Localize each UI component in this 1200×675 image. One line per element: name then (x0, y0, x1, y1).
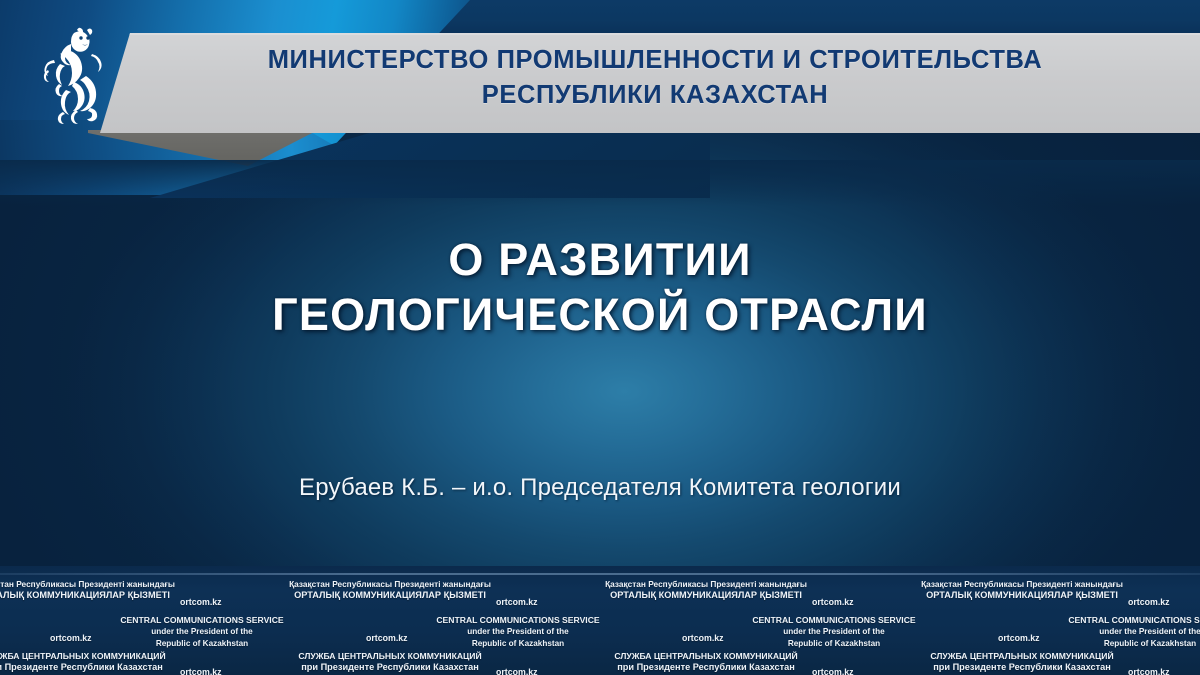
wm-en-line3: Republic of Kazakhstan (156, 639, 248, 648)
ministry-title: МИНИСТЕРСТВО ПРОМЫШЛЕННОСТИ И СТРОИТЕЛЬС… (150, 43, 1160, 113)
wm-ru-line2: при Президенте Республики Казахстан (0, 662, 163, 672)
header-bottom-fade (0, 160, 1200, 206)
wm-ru-line2: при Президенте Республики Казахстан (301, 662, 479, 672)
ministry-title-line1: МИНИСТЕРСТВО ПРОМЫШЛЕННОСТИ И СТРОИТЕЛЬС… (150, 43, 1160, 78)
watermark-url: ortcom.kz (180, 667, 222, 675)
wm-ru-line1: СЛУЖБА ЦЕНТРАЛЬНЫХ КОММУНИКАЦИЙ (930, 651, 1113, 661)
wm-en-line2: under the President of the (783, 627, 884, 636)
watermark-url: ortcom.kz (812, 667, 854, 675)
watermark-ru-text: СЛУЖБА ЦЕНТРАЛЬНЫХ КОММУНИКАЦИЙ при През… (260, 651, 520, 674)
watermark-ru-text: СЛУЖБА ЦЕНТРАЛЬНЫХ КОММУНИКАЦИЙ при През… (892, 651, 1152, 674)
watermark-kk-text: Қазақстан Республикасы Президенті жанынд… (0, 579, 204, 601)
page-title-line1: О РАЗВИТИИ (0, 232, 1200, 287)
watermark-kk-text: Қазақстан Республикасы Президенті жанынд… (260, 579, 520, 601)
slide-header: МИНИСТЕРСТВО ПРОМЫШЛЕННОСТИ И СТРОИТЕЛЬС… (0, 0, 1200, 175)
wm-kk-line2: ОРТАЛЫҚ КОММУНИКАЦИЯЛАР ҚЫЗМЕТІ (926, 590, 1118, 600)
watermark-grid: Қазақстан Республикасы Президенті жанынд… (0, 575, 1200, 675)
presentation-slide: МИНИСТЕРСТВО ПРОМЫШЛЕННОСТИ И СТРОИТЕЛЬС… (0, 0, 1200, 675)
watermark-en-text: CENTRAL COMMUNICATIONS SERVICE under the… (1020, 615, 1200, 649)
wm-kk-line1: Қазақстан Республикасы Президенті жанынд… (0, 579, 175, 589)
footer-watermark-band: Қазақстан Республикасы Президенті жанынд… (0, 566, 1200, 675)
header-band-highlight (0, 33, 1200, 35)
watermark-ru-text: СЛУЖБА ЦЕНТРАЛЬНЫХ КОММУНИКАЦИЙ при През… (576, 651, 836, 674)
watermark-ru-text: СЛУЖБА ЦЕНТРАЛЬНЫХ КОММУНИКАЦИЙ при През… (0, 651, 204, 674)
wm-en-line3: Republic of Kazakhstan (788, 639, 880, 648)
wm-en-line2: under the President of the (467, 627, 568, 636)
page-title: О РАЗВИТИИ ГЕОЛОГИЧЕСКОЙ ОТРАСЛИ (0, 232, 1200, 342)
wm-ru-line2: при Президенте Республики Казахстан (617, 662, 795, 672)
watermark-tile: Қазақстан Республикасы Президенті жанынд… (256, 575, 572, 675)
watermark-url: ortcom.kz (812, 597, 854, 607)
wm-en-line2: under the President of the (151, 627, 252, 636)
wm-ru-line1: СЛУЖБА ЦЕНТРАЛЬНЫХ КОММУНИКАЦИЙ (614, 651, 797, 661)
wm-kk-line1: Қазақстан Республикасы Президенті жанынд… (289, 579, 491, 589)
watermark-kk-text: Қазақстан Республикасы Президенті жанынд… (576, 579, 836, 601)
presenter-subtitle: Ерубаев К.Б. – и.о. Председателя Комитет… (0, 474, 1200, 502)
wm-kk-line1: Қазақстан Республикасы Президенті жанынд… (921, 579, 1123, 589)
wm-kk-line1: Қазақстан Республикасы Президенті жанынд… (605, 579, 807, 589)
watermark-url: ortcom.kz (998, 633, 1040, 643)
wm-ru-line2: при Президенте Республики Казахстан (933, 662, 1111, 672)
watermark-url: ortcom.kz (496, 597, 538, 607)
wm-kk-line2: ОРТАЛЫҚ КОММУНИКАЦИЯЛАР ҚЫЗМЕТІ (610, 590, 802, 600)
watermark-url: ortcom.kz (496, 667, 538, 675)
watermark-tile: Қазақстан Республикасы Президенті жанынд… (572, 575, 888, 675)
watermark-tile: Қазақстан Республикасы Президенті жанынд… (0, 575, 256, 675)
wm-kk-line2: ОРТАЛЫҚ КОММУНИКАЦИЯЛАР ҚЫЗМЕТІ (294, 590, 486, 600)
watermark-url: ortcom.kz (1128, 667, 1170, 675)
watermark-kk-text: Қазақстан Республикасы Президенті жанынд… (892, 579, 1152, 601)
watermark-url: ortcom.kz (180, 597, 222, 607)
wm-en-line2: under the President of the (1099, 627, 1200, 636)
watermark-url: ortcom.kz (1128, 597, 1170, 607)
wm-en-line3: Republic of Kazakhstan (472, 639, 564, 648)
ministry-title-line2: РЕСПУБЛИКИ КАЗАХСТАН (150, 78, 1160, 113)
wm-en-line1: CENTRAL COMMUNICATIONS SERVICE (1068, 615, 1200, 625)
watermark-url: ortcom.kz (682, 633, 724, 643)
wm-ru-line1: СЛУЖБА ЦЕНТРАЛЬНЫХ КОММУНИКАЦИЙ (0, 651, 166, 661)
wm-kk-line2: ОРТАЛЫҚ КОММУНИКАЦИЯЛАР ҚЫЗМЕТІ (0, 590, 170, 600)
watermark-url: ortcom.kz (50, 633, 92, 643)
page-title-line2: ГЕОЛОГИЧЕСКОЙ ОТРАСЛИ (0, 287, 1200, 342)
wm-en-line3: Republic of Kazakhstan (1104, 639, 1196, 648)
watermark-tile: Қазақстан Республикасы Президенті жанынд… (888, 575, 1200, 675)
wm-ru-line1: СЛУЖБА ЦЕНТРАЛЬНЫХ КОММУНИКАЦИЙ (298, 651, 481, 661)
watermark-url: ortcom.kz (366, 633, 408, 643)
snow-leopard-emblem (30, 24, 108, 132)
